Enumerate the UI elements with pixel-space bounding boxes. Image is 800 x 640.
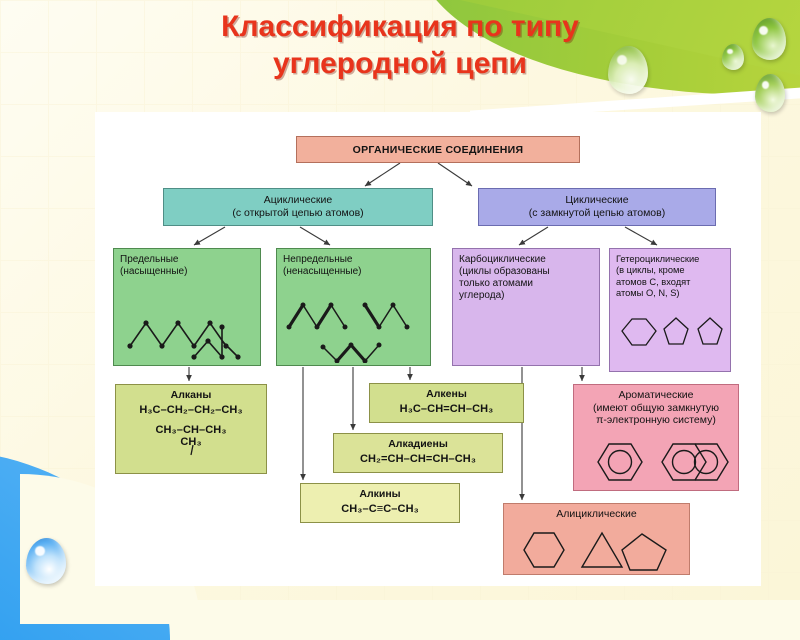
node-organic-compounds[interactable]: ОРГАНИЧЕСКИЕ СОЕДИНЕНИЯ [296,136,580,163]
node-label: Алкины [301,484,459,500]
node-cyclic[interactable]: Циклические (с замкнутой цепью атомов) [478,188,716,226]
formula-alkane-isobutane: CH₃–CH–CH₃ [116,424,266,436]
node-sublabel: (в циклы, кроме [616,265,725,276]
node-alicyclic[interactable]: Алициклические [503,503,690,575]
classification-diagram: ОРГАНИЧЕСКИЕ СОЕДИНЕНИЯ Ациклические (с … [0,0,800,600]
node-sublabel: (ненасыщенные) [283,266,425,278]
node-heterocyclic[interactable]: Гетероциклические (в циклы, кроме атомов… [609,248,731,372]
formula-alkene: H₃C–CH=CH–CH₃ [370,403,523,415]
aromatic-rings-illustration [588,435,730,489]
unsaturated-chain-illustration [283,289,429,363]
node-label: Ациклические [264,194,332,207]
node-alkenes[interactable]: Алкены H₃C–CH=CH–CH₃ [369,383,524,423]
node-label: ОРГАНИЧЕСКИЕ СОЕДИНЕНИЯ [353,144,524,156]
node-sublabel: (с открытой цепью атомов) [232,207,363,220]
node-sublabel: атомы O, N, S) [616,288,725,299]
node-saturated[interactable]: Предельные (насыщенные) [113,248,261,366]
formula-alkane-butane: H₃C–CH₂–CH₂–CH₃ [116,404,266,416]
formula-alkyne: CH₃–C≡C–CH₃ [301,503,459,515]
node-label: Гетероциклические [616,254,725,265]
node-sublabel: (циклы образованы [459,266,594,278]
alicyclic-rings-illustration [520,526,678,574]
node-sublabel: (насыщенные) [120,266,255,278]
saturated-chain-illustration [122,291,258,363]
node-label: Предельные [120,254,255,266]
formula-alkadiene: CH₂=CH–CH=CH–CH₃ [334,453,502,465]
node-aromatic[interactable]: Ароматические (имеют общую замкнутую π-э… [573,384,739,491]
node-label: Алкадиены [334,434,502,450]
node-sublabel: углерода) [459,290,594,302]
node-carbocyclic[interactable]: Карбоциклические (циклы образованы тольк… [452,248,600,366]
node-sublabel: только атомами [459,278,594,290]
node-sublabel: атомов С, входят [616,277,725,288]
node-sublabel: (имеют общую замкнутую [574,402,738,415]
node-label: Алициклические [556,508,636,520]
node-sublabel: π-электронную систему) [574,414,738,427]
node-label: Ароматические [574,389,738,402]
heterocycle-rings-illustration: N S O [614,313,728,369]
node-label: Карбоциклические [459,254,594,266]
node-label: Алканы [116,385,266,401]
node-label: Непредельные [283,254,425,266]
node-alkanes[interactable]: Алканы H₃C–CH₂–CH₂–CH₃ CH₃–CH–CH₃ CH₃ [115,384,267,474]
node-label: Алкены [370,384,523,400]
node-sublabel: (с замкнутой цепью атомов) [529,207,665,220]
node-alkadienes[interactable]: Алкадиены CH₂=CH–CH=CH–CH₃ [333,433,503,473]
node-acyclic[interactable]: Ациклические (с открытой цепью атомов) [163,188,433,226]
node-alkynes[interactable]: Алкины CH₃–C≡C–CH₃ [300,483,460,523]
node-label: Циклические [565,194,628,207]
node-unsaturated[interactable]: Непредельные (ненасыщенные) [276,248,431,366]
bond-tick-icon [188,445,200,457]
